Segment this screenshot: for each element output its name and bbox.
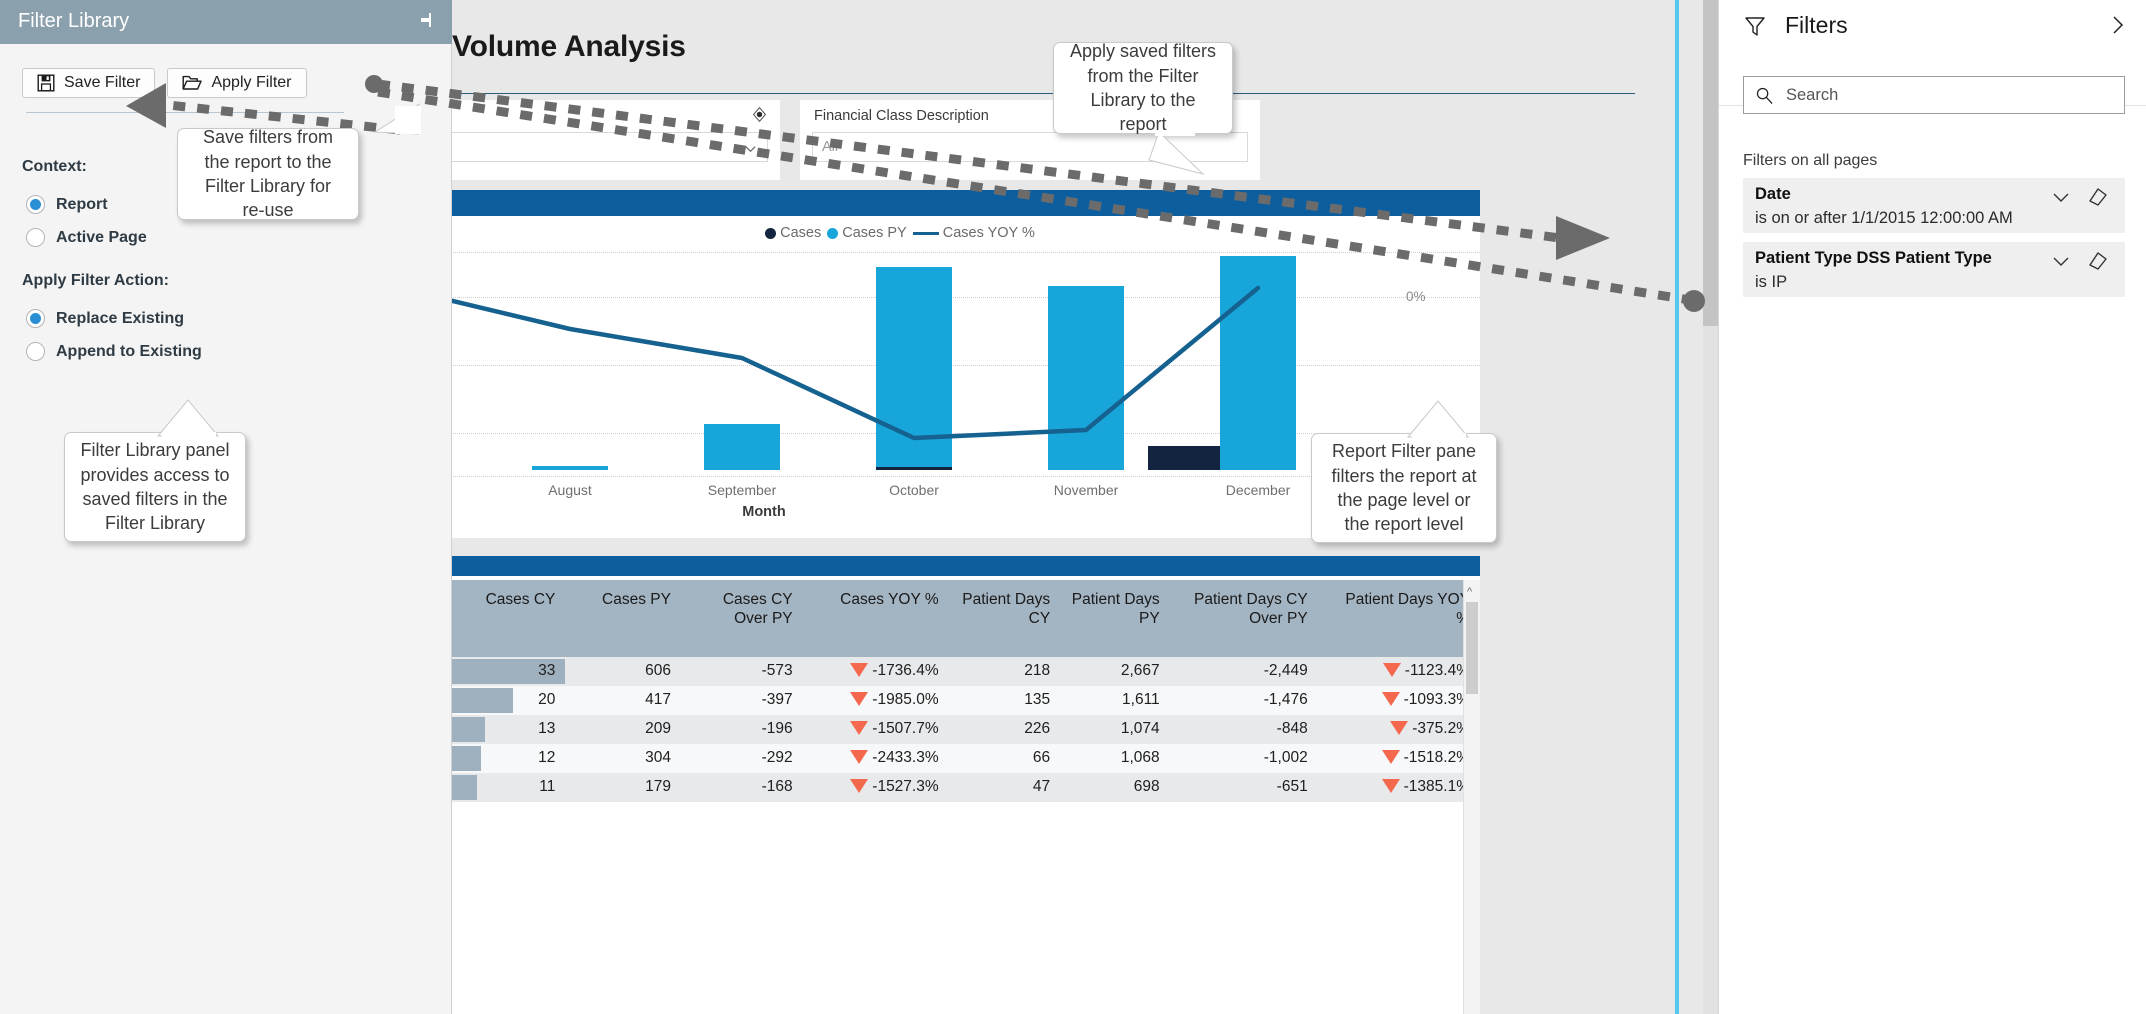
column-header-patient-days-cy-over-py[interactable]: Patient Days CY Over PY [1170, 580, 1318, 657]
cell-value: 13 [538, 720, 555, 737]
table-scrollbar[interactable]: ^ [1463, 580, 1480, 1014]
action-option-append[interactable]: Append to Existing [26, 342, 202, 361]
filters-pane: Filters Search Filters on all pages Date… [1718, 0, 2146, 1014]
cell-patient-days-yoy: -1123.4% [1318, 657, 1480, 686]
cell-patient-days-yoy: -1385.1% [1318, 773, 1480, 802]
legend-swatch-cases [765, 228, 776, 239]
cell-patient-days-cy: 218 [949, 657, 1061, 686]
cell-cases-cy-over-py: -292 [681, 744, 803, 773]
funnel-icon [1743, 14, 1767, 38]
cell-patient-days-py: 2,667 [1060, 657, 1170, 686]
apply-filter-label: Apply Filter [211, 74, 291, 92]
cell-value: 33 [538, 662, 555, 679]
slicer-patient-type[interactable]: on [452, 100, 780, 180]
cell-cases-py: 606 [565, 657, 681, 686]
context-option-report[interactable]: Report [26, 195, 108, 214]
accent-strip [1675, 0, 1679, 1014]
trend-down-icon [1390, 721, 1408, 735]
x-axis-tick: August [530, 482, 610, 498]
inline-bar [452, 746, 481, 771]
cell-patient-days-py: 1,068 [1060, 744, 1170, 773]
column-header-cases-yoy[interactable]: Cases YOY % [803, 580, 949, 657]
eraser-icon[interactable] [2087, 186, 2109, 208]
action-option-replace[interactable]: Replace Existing [26, 309, 184, 328]
inline-bar [452, 775, 477, 800]
callout-tail [158, 400, 220, 440]
table-header-row: Cases CY Cases PY Cases CY Over PY Cases… [452, 580, 1480, 657]
eraser-icon[interactable] [2087, 250, 2109, 272]
cell-value: -1736.4% [872, 662, 938, 679]
cell-cases-yoy: -1527.3% [803, 773, 949, 802]
trend-down-icon [850, 663, 868, 677]
table-row[interactable]: 20417-397-1985.0%1351,611-1,476-1093.3% [452, 686, 1480, 715]
cell-cases-py: 179 [565, 773, 681, 802]
cell-patient-days-cy: 135 [949, 686, 1061, 715]
filter-card-value: is IP [1755, 273, 1787, 292]
callout-text: Save filters from the report to the Filt… [192, 125, 344, 222]
cell-value: 11 [539, 778, 555, 795]
radio-indicator[interactable] [26, 342, 45, 361]
scroll-up-icon[interactable]: ^ [1467, 586, 1472, 598]
table-visual[interactable]: Cases CY Cases PY Cases CY Over PY Cases… [452, 556, 1480, 1014]
save-disk-icon [37, 74, 55, 92]
legend-item-cases-yoy[interactable]: Cases YOY % [913, 225, 1035, 241]
slicer-dropdown[interactable] [452, 132, 768, 162]
cell-value: -1385.1% [1404, 778, 1470, 795]
cell-patient-days-cy-over-py: -2,449 [1170, 657, 1318, 686]
scrollbar-thumb[interactable] [1466, 602, 1478, 694]
cell-cases-cy-over-py: -573 [681, 657, 803, 686]
callout-filter-library-panel: Filter Library panel provides access to … [64, 432, 246, 542]
table-row[interactable]: 12304-292-2433.3%661,068-1,002-1518.2% [452, 744, 1480, 773]
cell-value: -1507.7% [872, 720, 938, 737]
cell-value: -1527.3% [872, 778, 938, 795]
cell-patient-days-py: 1,074 [1060, 715, 1170, 744]
cell-patient-days-py: 698 [1060, 773, 1170, 802]
divider [26, 112, 344, 113]
column-header-cases-cy[interactable]: Cases CY [452, 580, 565, 657]
callout-text: Filter Library panel provides access to … [79, 438, 231, 535]
callout-report-filter-pane: Report Filter pane filters the report at… [1311, 433, 1497, 543]
search-icon [1755, 86, 1774, 105]
filters-pane-header: Filters Search [1719, 0, 2146, 106]
data-table[interactable]: Cases CY Cases PY Cases CY Over PY Cases… [452, 580, 1480, 802]
callout-tail [1408, 401, 1470, 441]
search-placeholder: Search [1786, 86, 1838, 105]
trend-down-icon [850, 750, 868, 764]
chart-legend: Cases Cases PY Cases YOY % [452, 222, 1480, 244]
page-title: Volume Analysis [452, 30, 686, 64]
visual-header-bar [452, 190, 1480, 216]
cell-cases-yoy: -1985.0% [803, 686, 949, 715]
cell-patient-days-cy-over-py: -1,002 [1170, 744, 1318, 773]
pin-icon[interactable] [416, 12, 436, 32]
column-header-cases-cy-over-py[interactable]: Cases CY Over PY [681, 580, 803, 657]
chevron-down-icon[interactable] [2051, 187, 2071, 207]
save-filter-label: Save Filter [64, 74, 140, 92]
apply-action-group-label: Apply Filter Action: [22, 272, 169, 290]
cell-cases-cy: 20 [452, 686, 565, 715]
cell-cases-yoy: -1507.7% [803, 715, 949, 744]
column-header-cases-py[interactable]: Cases PY [565, 580, 681, 657]
filter-card-name: Date [1755, 185, 1791, 204]
cell-cases-py: 417 [565, 686, 681, 715]
table-body: 33606-573-1736.4%2182,667-2,449-1123.4%2… [452, 657, 1480, 802]
legend-item-cases[interactable]: Cases [765, 225, 821, 241]
save-filter-button[interactable]: Save Filter [22, 68, 155, 98]
cell-patient-days-py: 1,611 [1060, 686, 1170, 715]
app-root: Volume Analysis on Financial Class Descr… [0, 0, 2146, 1014]
cell-cases-cy: 33 [452, 657, 565, 686]
radio-indicator[interactable] [26, 195, 45, 214]
chevron-down-icon[interactable] [744, 142, 757, 155]
legend-swatch-cases-py [827, 228, 838, 239]
slicer-label: Financial Class Description [814, 108, 989, 124]
cell-value: -1985.0% [872, 691, 938, 708]
filter-card-patient-type[interactable]: Patient Type DSS Patient Type is IP [1743, 242, 2125, 297]
radio-indicator[interactable] [26, 309, 45, 328]
trend-down-icon [1382, 779, 1400, 793]
cell-cases-py: 209 [565, 715, 681, 744]
cell-patient-days-cy-over-py: -651 [1170, 773, 1318, 802]
cell-patient-days-cy: 66 [949, 744, 1061, 773]
trend-down-icon [1382, 750, 1400, 764]
action-option-label: Append to Existing [56, 343, 202, 361]
chevron-down-icon[interactable] [2051, 251, 2071, 271]
trend-down-icon [1382, 692, 1400, 706]
cell-patient-days-cy-over-py: -1,476 [1170, 686, 1318, 715]
x-axis-tick: September [702, 482, 782, 498]
cell-patient-days-cy-over-py: -848 [1170, 715, 1318, 744]
filter-card-value: is on or after 1/1/2015 12:00:00 AM [1755, 209, 2013, 228]
cell-cases-cy: 13 [452, 715, 565, 744]
context-option-label: Report [56, 196, 108, 214]
legend-item-cases-py[interactable]: Cases PY [827, 225, 906, 241]
x-axis-tick: October [874, 482, 954, 498]
page-scrollbar-thumb[interactable] [1703, 0, 1718, 326]
cell-value: -375.2% [1412, 720, 1470, 737]
legend-label: Cases [780, 225, 821, 241]
cell-value: -2433.3% [872, 749, 938, 766]
filter-library-actions: Save Filter Apply Filter [22, 68, 307, 98]
legend-swatch-cases-yoy [913, 232, 939, 235]
table-row[interactable]: 33606-573-1736.4%2182,667-2,449-1123.4% [452, 657, 1480, 686]
open-folder-icon [182, 74, 202, 92]
cell-patient-days-yoy: -375.2% [1318, 715, 1480, 744]
cell-patient-days-yoy: -1093.3% [1318, 686, 1480, 715]
inline-bar [452, 688, 513, 713]
callout-apply-filter: Apply saved filters from the Filter Libr… [1053, 42, 1233, 134]
cell-patient-days-cy: 47 [949, 773, 1061, 802]
callout-text: Apply saved filters from the Filter Libr… [1068, 39, 1218, 136]
callout-tail [375, 104, 423, 146]
action-option-label: Replace Existing [56, 310, 184, 328]
visual-header-bar [452, 556, 1480, 576]
filters-pane-title: Filters [1785, 12, 1848, 39]
context-option-active-page[interactable]: Active Page [26, 228, 147, 247]
cell-cases-cy-over-py: -397 [681, 686, 803, 715]
cell-cases-yoy: -2433.3% [803, 744, 949, 773]
x-axis-tick: November [1046, 482, 1126, 498]
table-row[interactable]: 11179-168-1527.3%47698-651-1385.1% [452, 773, 1480, 802]
x-axis-tick: December [1218, 482, 1298, 498]
table-row[interactable]: 13209-196-1507.7%2261,074-848-375.2% [452, 715, 1480, 744]
cell-cases-yoy: -1736.4% [803, 657, 949, 686]
cell-value: 20 [538, 691, 555, 708]
focus-diamond-icon[interactable] [751, 106, 768, 123]
callout-save-filter: Save filters from the report to the Filt… [177, 128, 359, 220]
cell-value: -1093.3% [1404, 691, 1470, 708]
chevron-right-icon[interactable] [2107, 14, 2129, 36]
filter-library-header: Filter Library [0, 0, 452, 44]
cell-patient-days-yoy: -1518.2% [1318, 744, 1480, 773]
search-input[interactable]: Search [1743, 76, 2125, 114]
column-header-patient-days-yoy[interactable]: Patient Days YOY % [1318, 580, 1480, 657]
column-header-patient-days-cy[interactable]: Patient Days CY [949, 580, 1061, 657]
trend-down-icon [850, 779, 868, 793]
report-gutter [1635, 0, 1718, 1014]
filter-library-title: Filter Library [18, 10, 129, 33]
cell-patient-days-cy: 226 [949, 715, 1061, 744]
legend-label: Cases YOY % [943, 225, 1035, 241]
cell-cases-cy: 11 [452, 773, 565, 802]
context-option-label: Active Page [56, 229, 147, 247]
trend-down-icon [850, 692, 868, 706]
cell-cases-cy: 12 [452, 744, 565, 773]
cell-cases-cy-over-py: -196 [681, 715, 803, 744]
filter-card-name: Patient Type DSS Patient Type [1755, 249, 1992, 268]
legend-label: Cases PY [842, 225, 906, 241]
cell-cases-cy-over-py: -168 [681, 773, 803, 802]
cell-value: 12 [538, 749, 555, 766]
filters-section-label: Filters on all pages [1743, 152, 1877, 170]
cell-value: -1123.4% [1405, 662, 1470, 679]
slicer-value: All [822, 139, 838, 155]
context-group-label: Context: [22, 158, 87, 176]
filter-card-date[interactable]: Date is on or after 1/1/2015 12:00:00 AM [1743, 178, 2125, 233]
column-header-patient-days-py[interactable]: Patient Days PY [1060, 580, 1170, 657]
cell-cases-py: 304 [565, 744, 681, 773]
apply-filter-button[interactable]: Apply Filter [167, 68, 306, 98]
cell-value: -1518.2% [1404, 749, 1470, 766]
trend-down-icon [1383, 663, 1401, 677]
radio-indicator[interactable] [26, 228, 45, 247]
title-divider [452, 93, 1635, 94]
callout-text: Report Filter pane filters the report at… [1326, 439, 1482, 536]
inline-bar [452, 717, 485, 742]
x-axis-title: Month [664, 504, 864, 520]
trend-down-icon [850, 721, 868, 735]
callout-tail [1145, 132, 1205, 178]
